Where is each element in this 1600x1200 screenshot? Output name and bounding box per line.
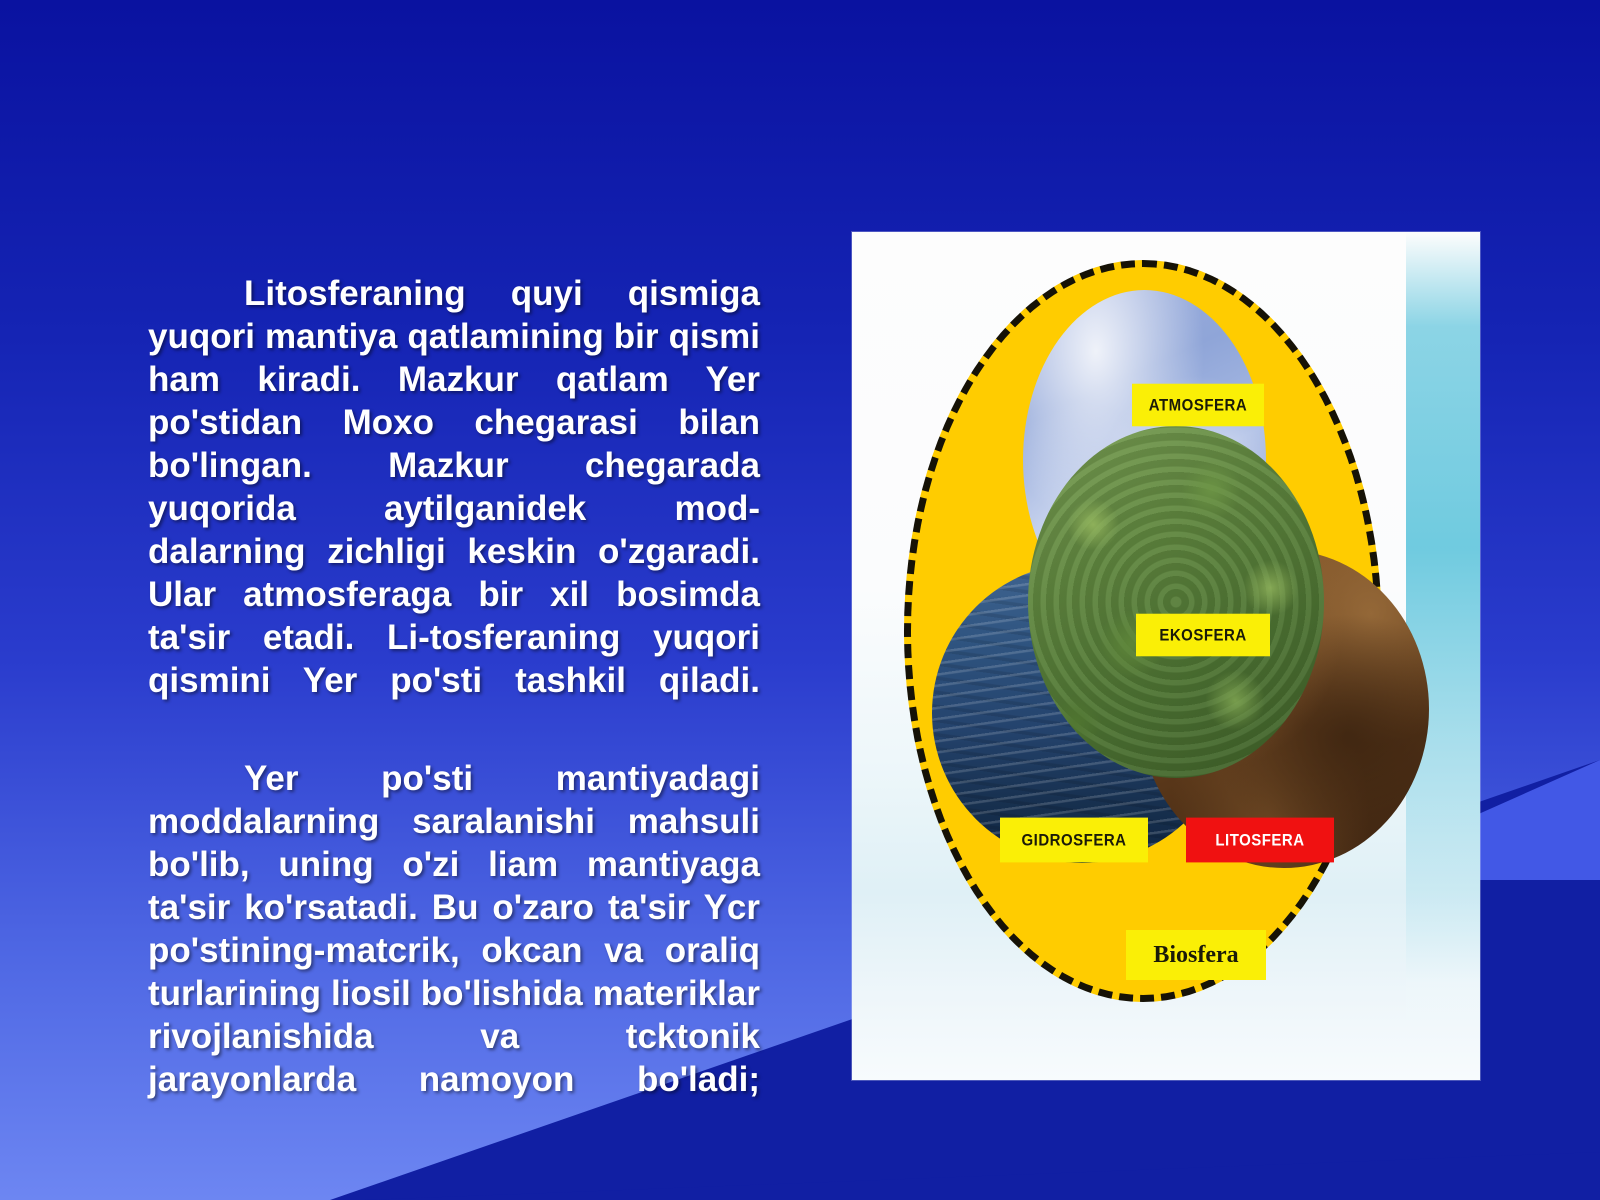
paragraph-1: Litosferaning quyi qismiga yuqori mantiy… [148,272,760,745]
ekosfera-sphere [1028,426,1324,778]
presentation-slide: Litosferaning quyi qismiga yuqori mantiy… [0,0,1600,1200]
biosfera-label: Biosfera [1126,930,1266,980]
litosfera-label: LITOSFERA [1186,818,1334,863]
ekosfera-label: EKOSFERA [1136,614,1270,657]
biosphere-venn-diagram: ATMOSFERA EKOSFERA GIDROSFERA LITOSFERA … [904,260,1382,1002]
background-wedge-bottom [0,1152,1600,1200]
image-cyan-band [1406,232,1480,1022]
slide-body-text: Litosferaning quyi qismiga yuqori mantiy… [148,272,760,1144]
biosphere-diagram-image: ATMOSFERA EKOSFERA GIDROSFERA LITOSFERA … [852,232,1480,1080]
atmosfera-label: ATMOSFERA [1132,384,1264,427]
paragraph-2: Yer po'sti mantiyadagi moddalarning sara… [148,757,760,1144]
gidrosfera-label: GIDROSFERA [1000,818,1148,863]
